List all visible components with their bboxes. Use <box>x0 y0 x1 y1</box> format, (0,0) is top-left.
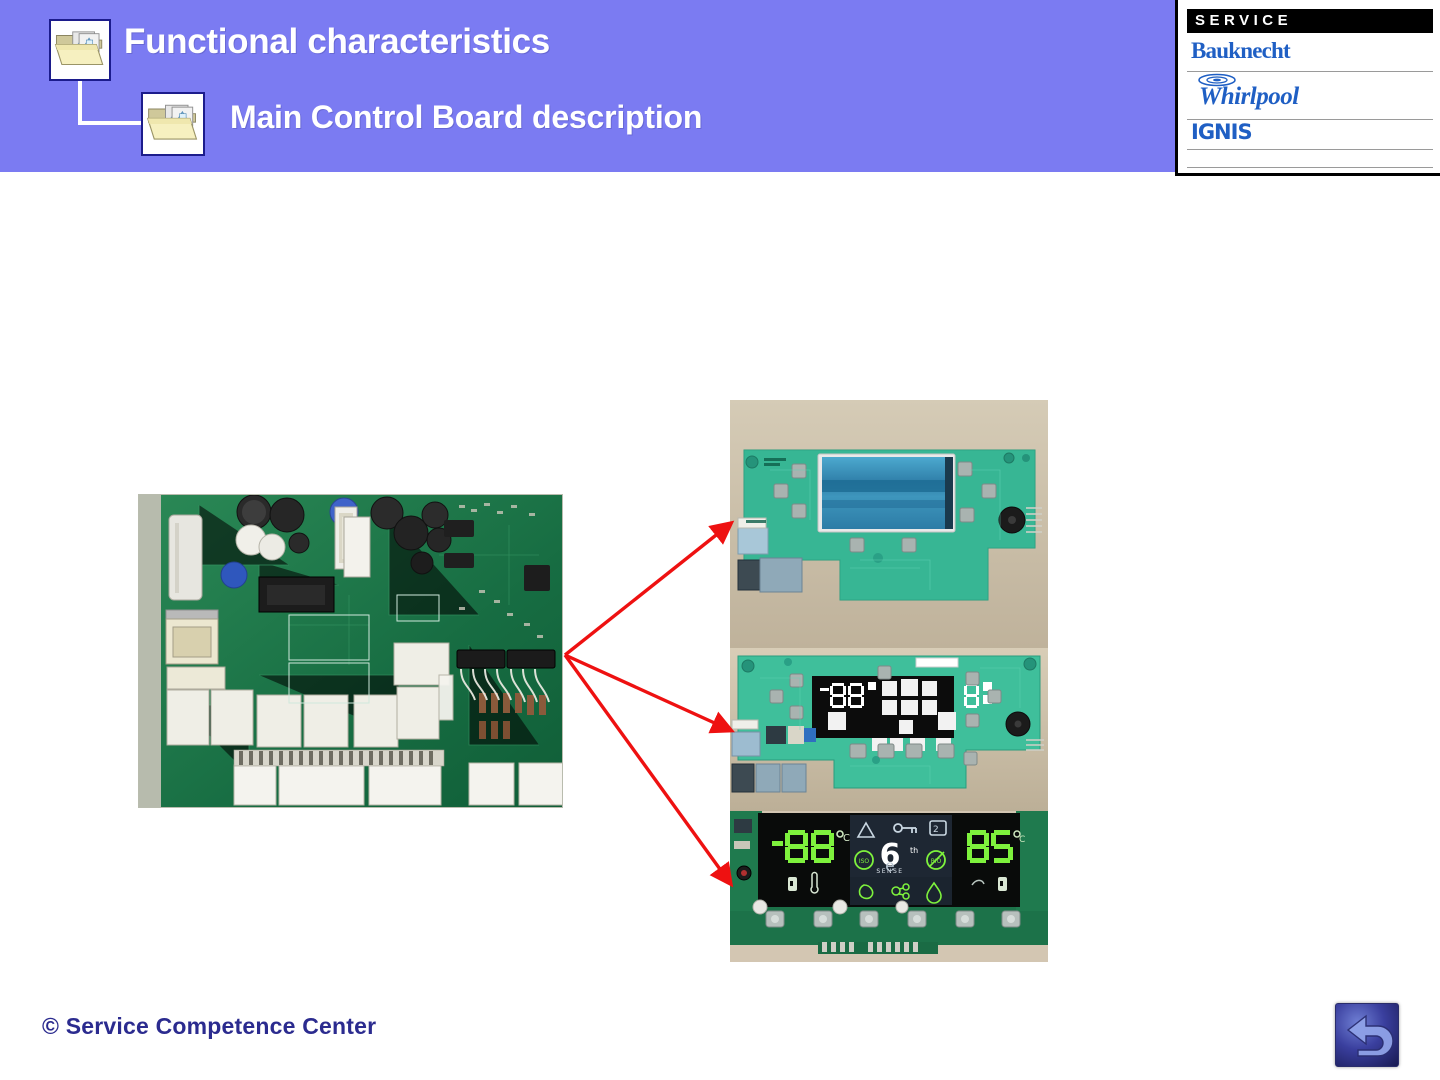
display-board-segment-photo <box>730 648 1048 811</box>
service-band: SERVICE <box>1187 9 1433 33</box>
tree-connector-line <box>78 81 144 125</box>
ignis-logo: IGNIS <box>1191 120 1252 144</box>
brand-row-bauknecht: Bauknecht <box>1187 38 1433 72</box>
bauknecht-logo: Bauknecht <box>1191 38 1290 64</box>
svg-text:e: e <box>885 856 894 875</box>
back-arrow-icon[interactable] <box>1335 1003 1399 1067</box>
service-label: SERVICE <box>1187 9 1433 33</box>
arrow-to-display-board-1 <box>565 524 730 655</box>
display-board-fridge-photo: C 2 6 th SENSE ISO BIO e <box>730 811 1048 962</box>
svg-text:2: 2 <box>933 825 939 835</box>
page-subtitle: Main Control Board description <box>230 99 702 136</box>
brand-row-whirlpool: Whirlpool <box>1187 72 1433 120</box>
page-title: Functional characteristics <box>124 22 550 62</box>
display-board-lcd-photo <box>730 400 1048 648</box>
whirlpool-logo: Whirlpool <box>1199 83 1299 111</box>
header-title-group: Functional characteristics Main Control … <box>0 0 1175 172</box>
main-control-board-photo <box>138 494 563 808</box>
footer-label: Service Competence Center <box>66 1013 377 1039</box>
brand-row-divider <box>1187 150 1433 168</box>
arrow-to-display-board-2 <box>565 655 730 730</box>
arrow-to-display-board-3 <box>565 655 730 883</box>
brand-row-ignis: IGNIS <box>1187 120 1433 150</box>
tree-connector-horizontal <box>78 121 144 125</box>
copyright-symbol: © <box>42 1013 59 1039</box>
svg-text:ISO: ISO <box>859 858 870 865</box>
footer-copyright: © Service Competence Center <box>42 1013 376 1040</box>
folder-with-images-icon[interactable] <box>49 19 111 81</box>
svg-text:C: C <box>843 833 850 844</box>
svg-text:C: C <box>1019 835 1025 845</box>
svg-text:th: th <box>910 846 918 855</box>
tree-connector-vertical <box>78 81 82 125</box>
brand-logo-panel: SERVICE Bauknecht Whirlpool IGNIS <box>1175 0 1440 176</box>
slide-content: C 2 6 th SENSE ISO BIO e <box>0 176 1440 1080</box>
folder-with-images-icon-sub[interactable] <box>141 92 205 156</box>
